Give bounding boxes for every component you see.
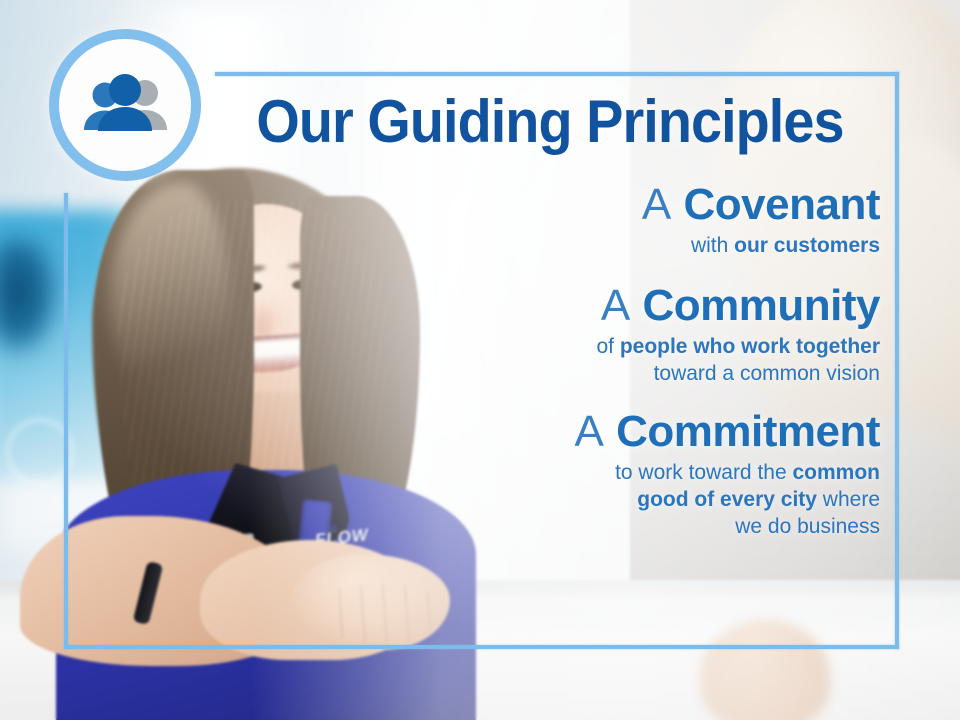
principle-commitment-detail-bold1: common [792, 461, 880, 484]
frame-border-bottom [64, 645, 899, 649]
principle-commitment-detail-plain1: to work toward the [615, 461, 792, 484]
principle-community-detail-plain: of [596, 335, 619, 358]
frame-border-right [895, 72, 899, 649]
principle-commitment-detail: to work toward the common good of every … [300, 459, 880, 541]
principle-commitment-keyword: Commitment [616, 407, 880, 456]
principle-community-heading: A Community [300, 283, 880, 330]
principle-covenant-article: A [642, 180, 671, 229]
principle-community-article: A [601, 281, 630, 330]
principle-covenant-detail-bold: our customers [734, 234, 880, 257]
frame-border-top [215, 72, 899, 76]
principle-covenant-detail-plain: with [691, 234, 734, 257]
principle-community: A Community of people who work together … [300, 283, 880, 387]
principle-community-detail-line2: toward a common vision [300, 360, 880, 387]
principle-covenant-heading: A Covenant [300, 182, 880, 229]
banner-graphic: FLOW AUTOMOTIVE FLOW [0, 0, 960, 720]
people-badge [49, 29, 201, 181]
principle-covenant: A Covenant with our customers [300, 182, 880, 259]
frame-border-left [64, 193, 68, 649]
principle-covenant-keyword: Covenant [684, 180, 880, 229]
principle-commitment: A Commitment to work toward the common g… [300, 409, 880, 541]
principle-community-detail: of people who work together toward a com… [300, 333, 880, 388]
principle-commitment-detail-bold2: good of every city [637, 488, 817, 511]
principle-community-keyword: Community [643, 281, 881, 330]
principle-community-detail-bold: people who work together [620, 335, 880, 358]
principles-list: A Covenant with our customers A Communit… [300, 182, 880, 541]
principle-commitment-detail-line1: to work toward the common [300, 459, 880, 486]
page-title: Our Guiding Principles [238, 92, 861, 152]
principle-commitment-article: A [575, 407, 604, 456]
principle-commitment-detail-plain2: where [817, 488, 880, 511]
principle-commitment-detail-line3: we do business [300, 513, 880, 540]
principle-community-detail-line1: of people who work together [300, 333, 880, 360]
principle-commitment-heading: A Commitment [300, 409, 880, 456]
people-group-icon [79, 73, 171, 137]
principle-commitment-detail-line2: good of every city where [300, 486, 880, 513]
principle-covenant-detail: with our customers [300, 232, 880, 259]
